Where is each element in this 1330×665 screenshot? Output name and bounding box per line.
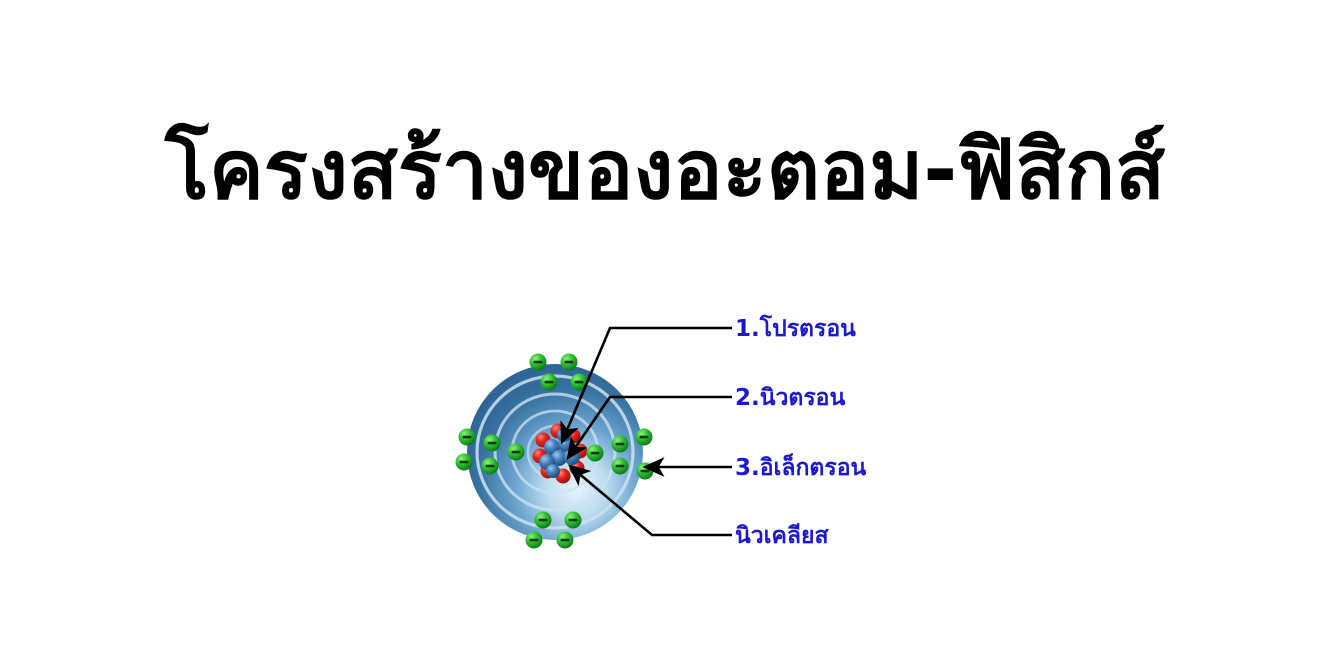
leader-line-neutron: [568, 397, 732, 458]
label-proton: 1.โปรตรอน: [735, 318, 856, 341]
label-nucleus: นิวเคลียส: [735, 525, 829, 548]
slide-canvas: โครงสร้างของอะตอม-ฟิสิกส์: [0, 0, 1330, 665]
leader-line-nucleus: [570, 466, 732, 535]
atom-structure-diagram: 1.โปรตรอน 2.นิวตรอน 3.อิเล็กตรอน นิวเคลี…: [440, 290, 910, 590]
leader-line-proton: [562, 328, 732, 442]
label-neutron: 2.นิวตรอน: [735, 387, 845, 410]
label-electron: 3.อิเล็กตรอน: [735, 457, 866, 480]
page-title: โครงสร้างของอะตอม-ฟิสิกส์: [0, 128, 1330, 214]
